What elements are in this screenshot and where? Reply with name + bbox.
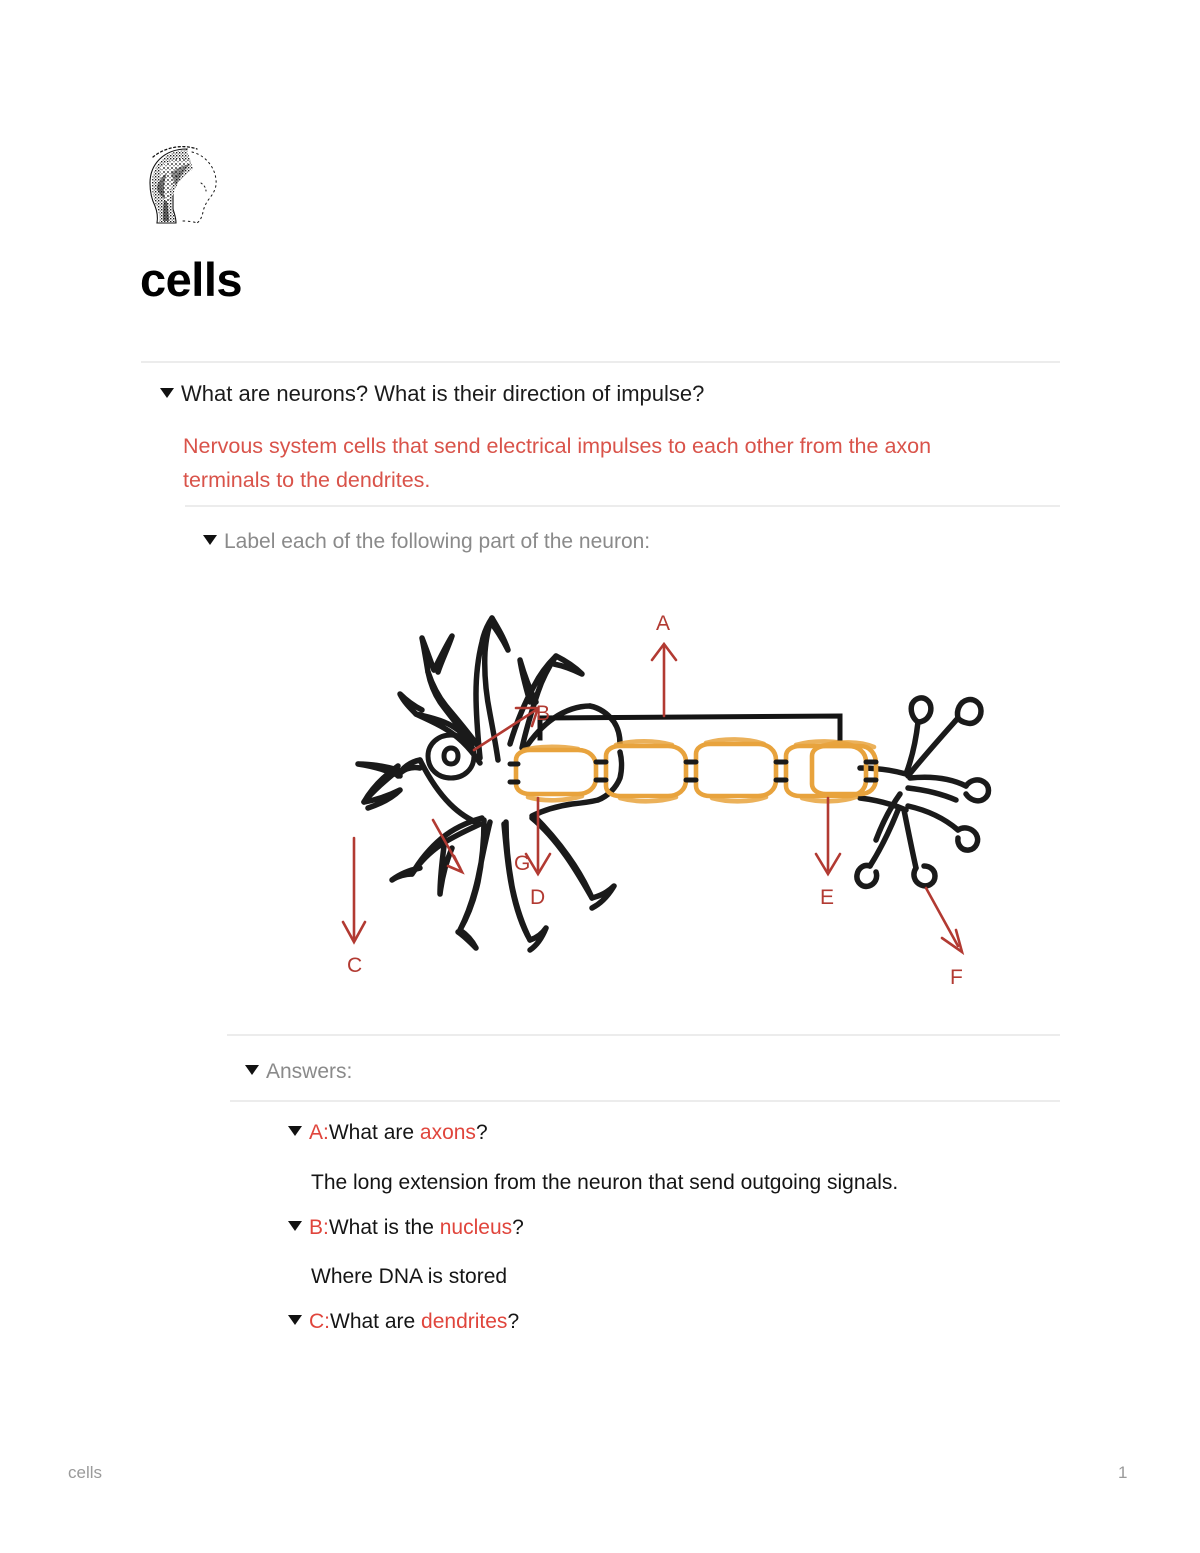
callout-letter-G: G xyxy=(514,852,530,875)
callout-letter-A: A xyxy=(656,612,670,635)
collapse-triangle-icon[interactable] xyxy=(288,1126,302,1136)
answer-row-a-question[interactable]: A:What are axons? xyxy=(288,1121,488,1145)
answer-b-label: B: xyxy=(309,1216,329,1239)
answer-row-c-question[interactable]: C:What are dendrites? xyxy=(288,1310,519,1334)
answer-a-question-prefix: What are xyxy=(329,1121,420,1144)
page-title: cells xyxy=(140,256,242,303)
answer-a-term: axons xyxy=(420,1121,476,1144)
answer-a-label: A: xyxy=(309,1121,329,1144)
answer-c-question-suffix: ? xyxy=(507,1310,519,1333)
answer-b-term: nucleus xyxy=(440,1216,512,1239)
divider-3 xyxy=(227,1034,1060,1036)
collapse-triangle-icon[interactable] xyxy=(288,1221,302,1231)
answers-heading-text: Answers: xyxy=(266,1060,352,1083)
divider-2 xyxy=(185,505,1060,507)
answer-b-text: Where DNA is stored xyxy=(311,1265,507,1289)
answer-c-question-prefix: What are xyxy=(330,1310,421,1333)
collapse-triangle-icon[interactable] xyxy=(203,535,217,545)
footer-document-name: cells xyxy=(68,1463,102,1483)
collapse-triangle-icon[interactable] xyxy=(160,388,174,398)
answer-b-question-prefix: What is the xyxy=(329,1216,440,1239)
answer-1-text: Nervous system cells that send electrica… xyxy=(183,429,1013,497)
answer-c-label: C: xyxy=(309,1310,330,1333)
answer-a-question-suffix: ? xyxy=(476,1121,488,1144)
answer-b-question-suffix: ? xyxy=(512,1216,524,1239)
question-1-text: What are neurons? What is their directio… xyxy=(181,381,704,406)
answer-c-term: dendrites xyxy=(421,1310,507,1333)
answers-heading-row[interactable]: Answers: xyxy=(245,1060,352,1084)
question-2-text: Label each of the following part of the … xyxy=(224,530,650,553)
callout-letter-E: E xyxy=(820,886,834,909)
collapse-triangle-icon[interactable] xyxy=(288,1315,302,1325)
callout-letter-B: B xyxy=(536,702,550,725)
brain-head-profile-icon xyxy=(143,143,227,231)
neuron-diagram: A B C G D E F xyxy=(248,598,1008,1018)
divider-4 xyxy=(230,1100,1060,1102)
question-2-row[interactable]: Label each of the following part of the … xyxy=(203,530,650,554)
footer-page-number: 1 xyxy=(1118,1463,1127,1483)
document-page: cells What are neurons? What is their di… xyxy=(0,0,1200,1553)
question-1-row[interactable]: What are neurons? What is their directio… xyxy=(160,381,704,407)
callout-letter-D: D xyxy=(530,886,545,909)
callout-letter-F: F xyxy=(950,966,963,989)
answer-a-text: The long extension from the neuron that … xyxy=(311,1171,898,1195)
answer-row-b-question[interactable]: B:What is the nucleus? xyxy=(288,1216,524,1240)
collapse-triangle-icon[interactable] xyxy=(245,1065,259,1075)
divider-1 xyxy=(141,361,1060,363)
callout-letter-C: C xyxy=(347,954,362,977)
